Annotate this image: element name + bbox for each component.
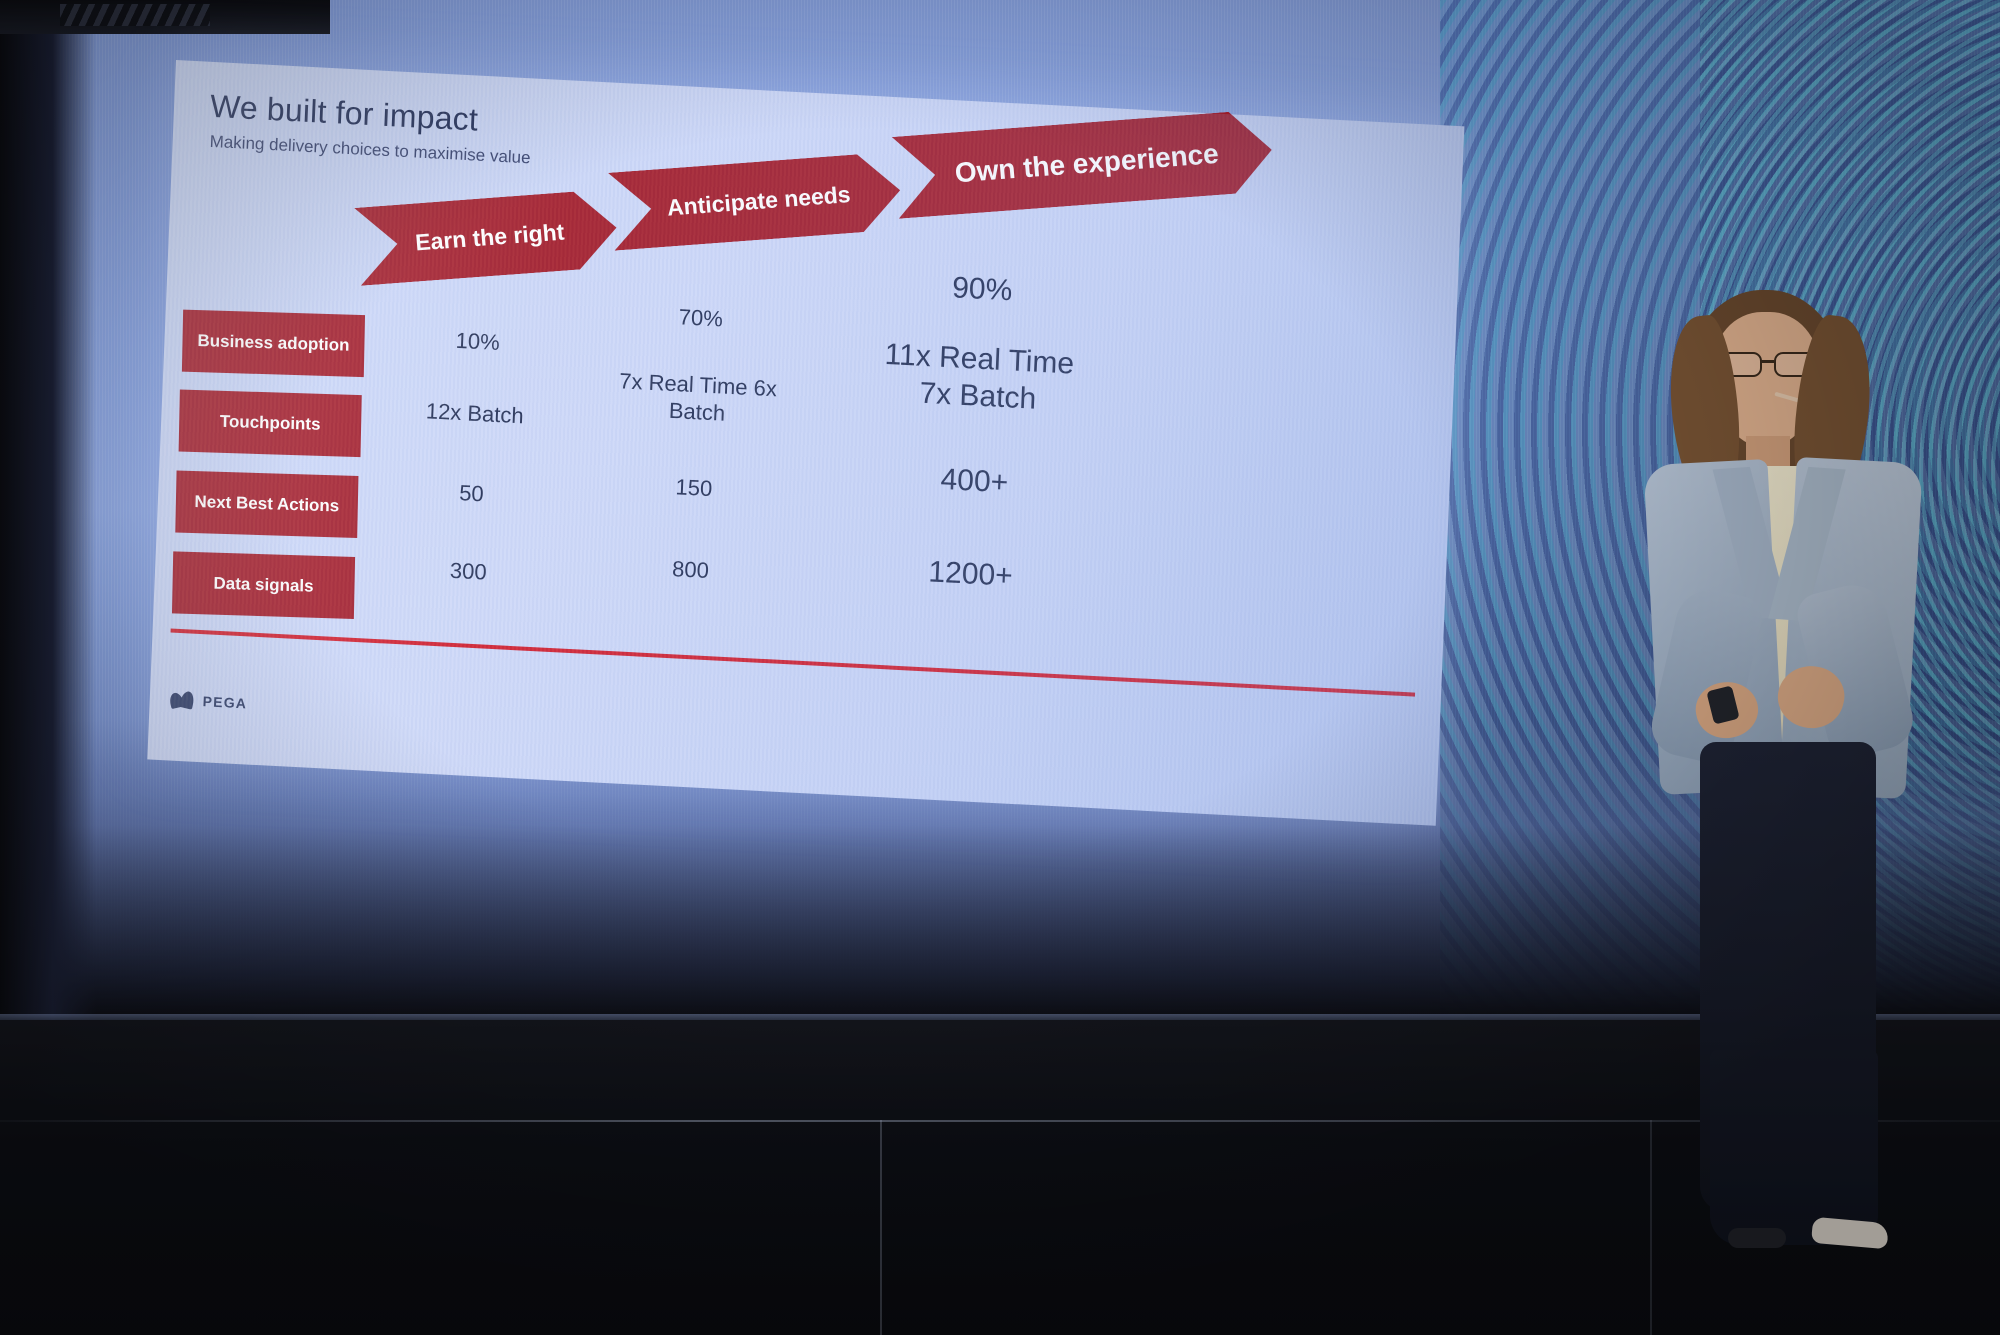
value-next-best-actions-stage-1: 50 [386, 476, 557, 512]
value-next-best-actions-stage-3: 400+ [829, 456, 1120, 507]
photo-scene: We built for impact Making delivery choi… [0, 0, 2000, 1335]
floor-seam-vertical-1 [880, 1120, 882, 1335]
value-data-signals-stage-2: 800 [585, 552, 796, 590]
value-next-best-actions-stage-2: 150 [588, 470, 799, 508]
projected-slide: We built for impact Making delivery choi… [147, 60, 1464, 826]
value-data-signals-stage-3: 1200+ [825, 549, 1116, 600]
ceiling-truss [0, 0, 330, 34]
value-business-adoption-stage-2: 70% [595, 300, 806, 338]
glasses-bridge [1760, 360, 1774, 363]
pega-wordmark: PEGA [202, 693, 247, 711]
presenter [1560, 290, 1980, 1320]
metric-value-grid: 10% 12x Batch 50 300 70% 7x Real Time 6x… [147, 60, 1464, 826]
value-touchpoints-stage-2: 7x Real Time 6x Batch [592, 367, 804, 431]
value-touchpoints-stage-3: 11x Real Time 7x Batch [832, 334, 1125, 422]
value-business-adoption-stage-3: 90% [837, 264, 1128, 315]
value-data-signals-stage-1: 300 [383, 554, 554, 590]
value-business-adoption-stage-1: 10% [392, 325, 563, 361]
pega-logo-icon [169, 690, 196, 708]
presenter-trousers-hem [1710, 1050, 1878, 1245]
presenter-shoe-left [1728, 1228, 1786, 1248]
value-touchpoints-stage-1: 12x Batch [389, 396, 560, 432]
stage-left-shadow [0, 0, 96, 1020]
